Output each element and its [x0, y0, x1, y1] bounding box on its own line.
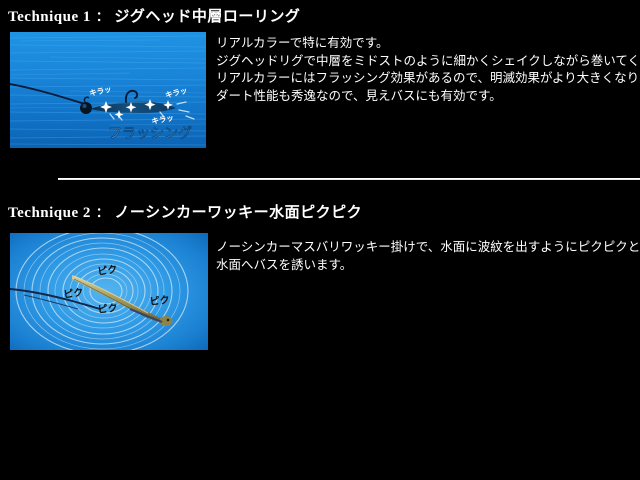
technique-2-heading: Technique 2：ノーシンカーワッキー水面ピクピク	[8, 203, 362, 223]
technique-1-body-line-1: リアルカラーで特に有効です。	[216, 34, 640, 52]
worm-eye	[167, 319, 170, 322]
technique-2-heading-separator: ：	[91, 206, 115, 221]
jig-head-highlight	[83, 104, 87, 108]
technique-1-body: リアルカラーで特に有効です。 ジグヘッドリグで中層をミドストのように細かくシェイ…	[216, 34, 640, 104]
figure-1-caption: フラッシング	[108, 125, 192, 142]
jig-head	[80, 102, 92, 114]
technique-2-body-line-1: ノーシンカーマスバリワッキー掛けで、水面に波紋を出すようにピクピクとシェイク。	[216, 238, 640, 256]
twitch-label-3: ピク	[97, 302, 118, 316]
technique-2-body-line-2: 水面へバスを誘います。	[216, 256, 640, 274]
technique-1-heading-en: Technique 1	[8, 9, 91, 25]
technique-1-heading: Technique 1：ジグヘッド中層ローリング	[8, 7, 300, 27]
section-divider	[58, 178, 640, 180]
technique-2-heading-jp: ノーシンカーワッキー水面ピクピク	[114, 203, 362, 221]
technique-1-heading-separator: ：	[91, 10, 115, 25]
page-root: Technique 1：ジグヘッド中層ローリング	[0, 0, 640, 480]
technique-2-heading-en: Technique 2	[8, 205, 91, 221]
technique-1-body-line-2: ジグヘッドリグで中層をミドストのように細かくシェイクしながら巻いてくる。	[216, 52, 640, 70]
technique-2-figure: ピク ピク ピク ピク	[10, 233, 208, 350]
technique-1-figure: キラッ キラッ キラッ フラッシング	[10, 32, 206, 148]
twitch-label-4: ピク	[149, 294, 170, 308]
technique-1-heading-jp: ジグヘッド中層ローリング	[114, 7, 300, 25]
jighead-rolling-illustration: キラッ キラッ キラッ フラッシング	[10, 32, 206, 148]
technique-1-body-line-4: ダート性能も秀逸なので、見えバスにも有効です。	[216, 87, 640, 105]
technique-2-body: ノーシンカーマスバリワッキー掛けで、水面に波紋を出すようにピクピクとシェイク。 …	[216, 238, 640, 273]
wacky-surface-illustration: ピク ピク ピク ピク	[10, 233, 208, 350]
technique-1-body-line-3: リアルカラーにはフラッシング効果があるので、明滅効果がより大きくなります。	[216, 69, 640, 87]
